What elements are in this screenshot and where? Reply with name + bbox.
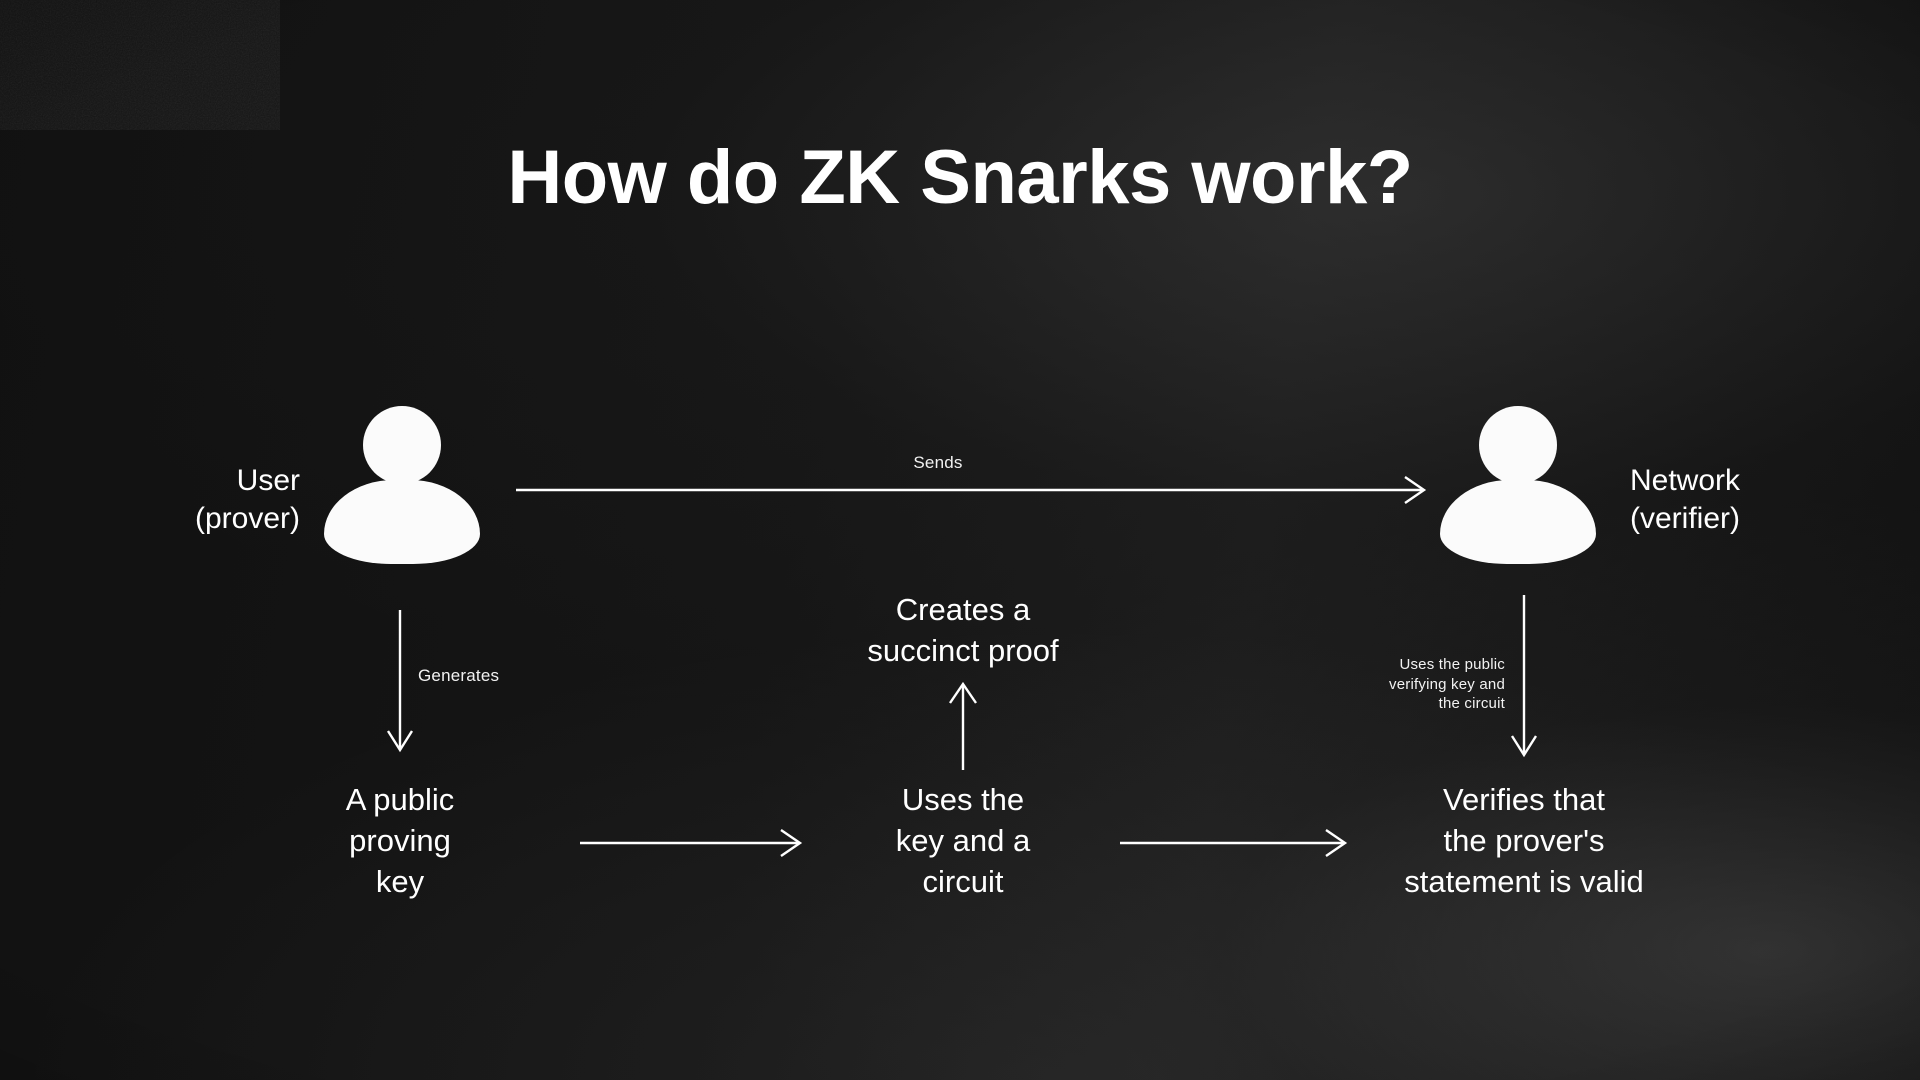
person-icon-verifier <box>1440 406 1596 564</box>
arrow-label-sends: Sends <box>913 452 962 473</box>
actor-label-prover-line1: User <box>20 462 300 500</box>
node-verifies-statement-line2: the prover's <box>1358 821 1690 862</box>
node-verifies-statement-line3: statement is valid <box>1358 862 1690 903</box>
page-title: How do ZK Snarks work? <box>0 140 1920 216</box>
node-proving-key-line3: key <box>280 862 520 903</box>
person-body <box>324 480 480 564</box>
node-uses-key-circuit: Uses the key and a circuit <box>843 780 1083 903</box>
arrow-label-uses-public-key-line1: Uses the public <box>1300 655 1505 675</box>
node-creates-succinct-proof-line2: succinct proof <box>813 631 1113 672</box>
actor-label-verifier-line2: (verifier) <box>1630 500 1910 538</box>
node-creates-succinct-proof: Creates a succinct proof <box>813 590 1113 672</box>
node-uses-key-circuit-line3: circuit <box>843 862 1083 903</box>
arrow-label-uses-public-key: Uses the public verifying key and the ci… <box>1300 655 1505 714</box>
person-head <box>1479 406 1557 484</box>
node-proving-key-line2: proving <box>280 821 520 862</box>
node-creates-succinct-proof-line1: Creates a <box>813 590 1113 631</box>
node-verifies-statement-line1: Verifies that <box>1358 780 1690 821</box>
actor-label-prover: User (prover) <box>20 462 300 539</box>
node-verifies-statement: Verifies that the prover's statement is … <box>1358 780 1690 903</box>
node-proving-key: A public proving key <box>280 780 520 903</box>
actor-label-verifier: Network (verifier) <box>1630 462 1910 539</box>
node-proving-key-line1: A public <box>280 780 520 821</box>
diagram-canvas: How do ZK Snarks work? User (prover) Net… <box>0 0 1920 1080</box>
arrow-label-uses-public-key-line2: verifying key and <box>1300 675 1505 695</box>
actor-label-verifier-line1: Network <box>1630 462 1910 500</box>
node-uses-key-circuit-line2: key and a <box>843 821 1083 862</box>
node-uses-key-circuit-line1: Uses the <box>843 780 1083 821</box>
arrow-label-generates: Generates <box>418 665 499 686</box>
person-head <box>363 406 441 484</box>
arrow-label-uses-public-key-line3: the circuit <box>1300 694 1505 714</box>
person-icon-prover <box>324 406 480 564</box>
actor-label-prover-line2: (prover) <box>20 500 300 538</box>
person-body <box>1440 480 1596 564</box>
